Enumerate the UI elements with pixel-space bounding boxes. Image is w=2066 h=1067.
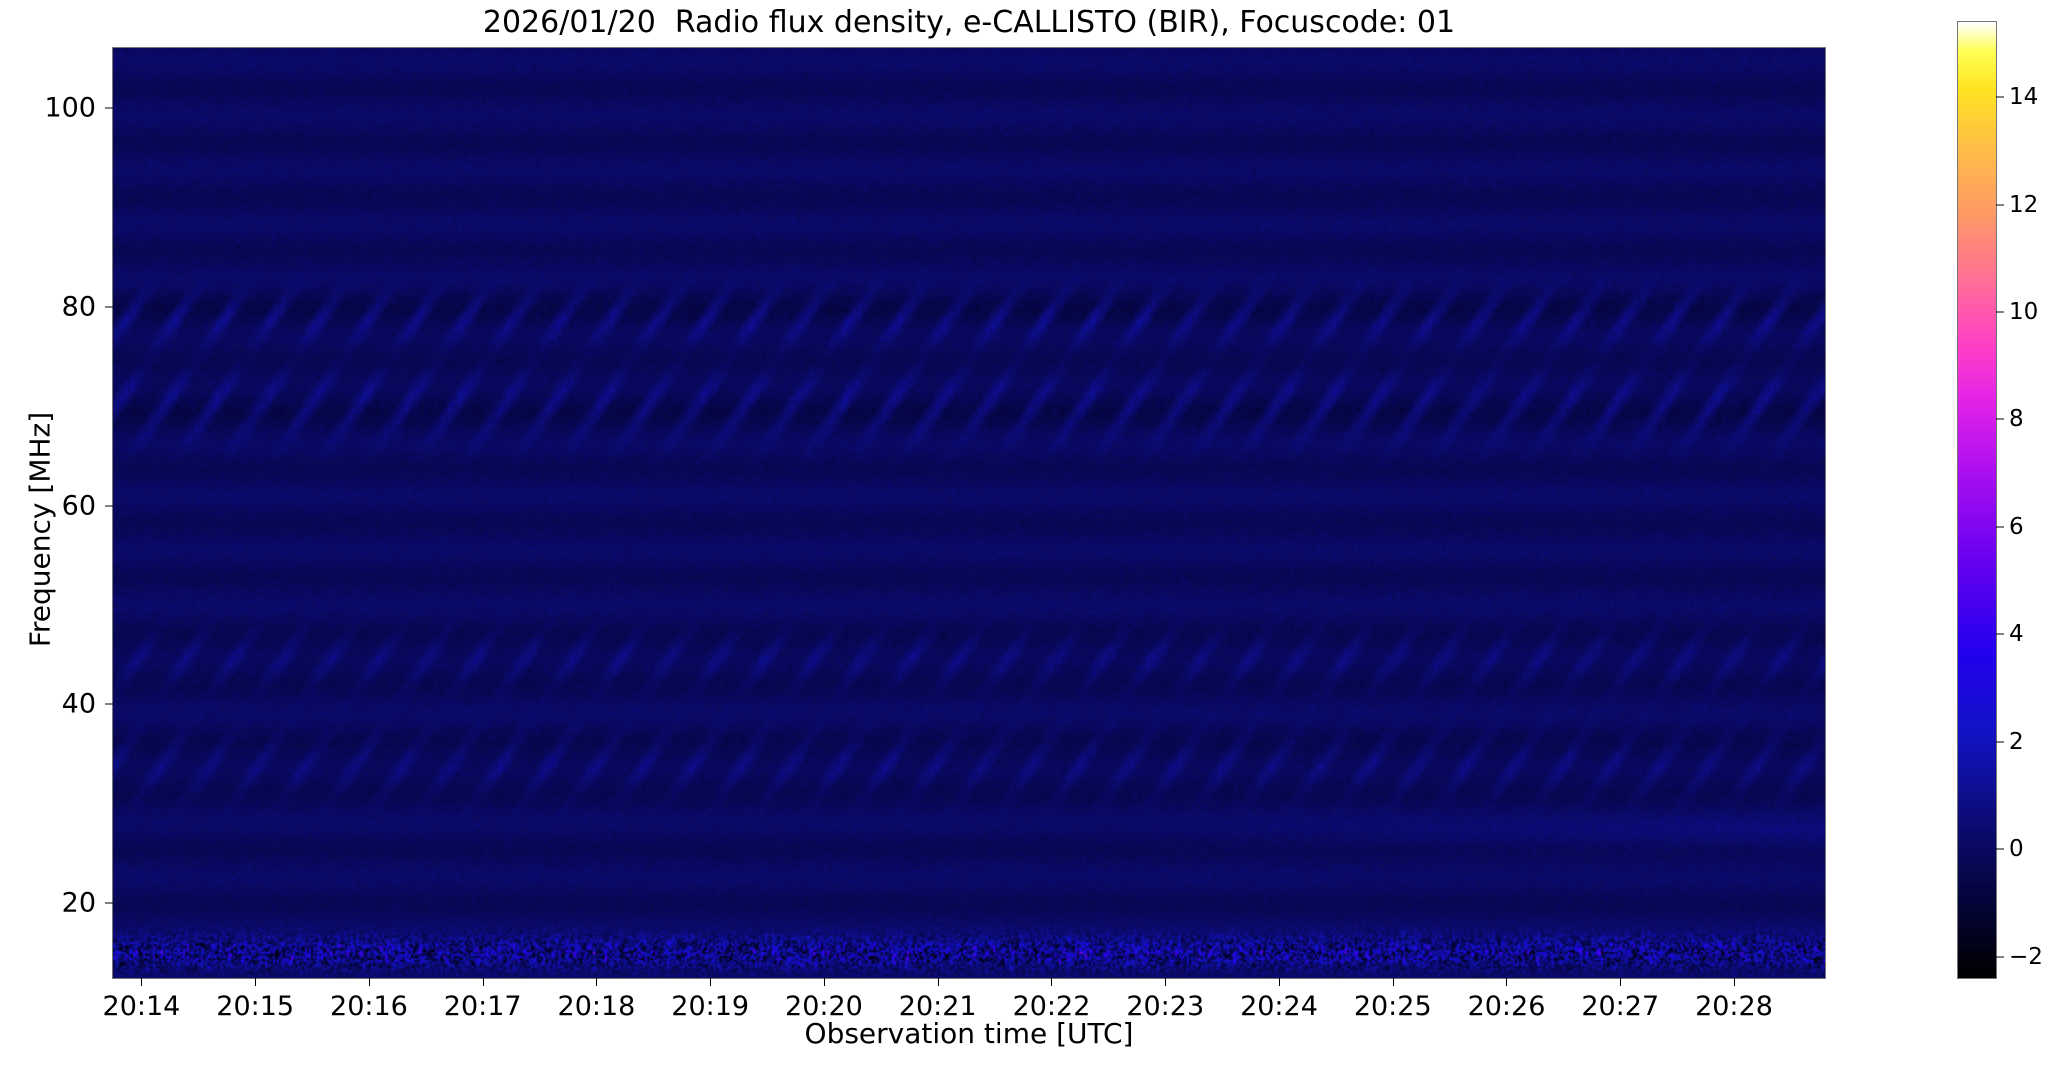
colorbar-tick-label: 12 [2009, 192, 2038, 218]
y-tick-label: 60 [62, 490, 96, 521]
colorbar-tick-mark [1996, 204, 2004, 205]
x-tick-mark [255, 978, 256, 986]
x-tick-mark [938, 978, 939, 986]
colorbar-tick-label: −2 [2009, 944, 2043, 970]
x-tick-mark [1506, 978, 1507, 986]
y-tick-label: 100 [44, 92, 96, 123]
colorbar-tick-label: 6 [2009, 514, 2024, 540]
page-title: 2026/01/20 Radio flux density, e-CALLIST… [113, 4, 1825, 42]
y-tick-mark [105, 306, 113, 307]
x-tick-mark [710, 978, 711, 986]
y-tick-mark [105, 903, 113, 904]
x-tick-mark [1393, 978, 1394, 986]
y-tick-label: 80 [62, 291, 96, 322]
x-tick-mark [369, 978, 370, 986]
colorbar-tick-label: 2 [2009, 729, 2024, 755]
colorbar-tick-label: 0 [2009, 836, 2024, 862]
colorbar-ticks: 14121086420−2 [1996, 0, 2066, 1067]
x-tick-mark [1051, 978, 1052, 986]
y-tick-mark [105, 704, 113, 705]
colorbar-tick-label: 10 [2009, 299, 2038, 325]
colorbar-tick-mark [1996, 956, 2004, 957]
colorbar[interactable] [1958, 22, 1996, 978]
y-axis-title: Frequency [MHz] [24, 230, 57, 830]
x-tick-mark [596, 978, 597, 986]
colorbar-tick-label: 4 [2009, 621, 2024, 647]
colorbar-tick-label: 14 [2009, 84, 2038, 110]
x-tick-mark [141, 978, 142, 986]
figure-canvas: 2026/01/20 Radio flux density, e-CALLIST… [0, 0, 2066, 1067]
y-tick-mark [105, 505, 113, 506]
x-axis-title: Observation time [UTC] [113, 1017, 1825, 1050]
y-tick-label: 20 [62, 888, 96, 919]
x-tick-mark [824, 978, 825, 986]
colorbar-tick-mark [1996, 419, 2004, 420]
colorbar-tick-mark [1996, 741, 2004, 742]
colorbar-tick-mark [1996, 312, 2004, 313]
colorbar-gradient [1958, 22, 1996, 978]
spectrogram-image [113, 48, 1825, 978]
colorbar-tick-mark [1996, 526, 2004, 527]
spectrogram-plot-area[interactable] [113, 48, 1825, 978]
x-tick-mark [1620, 978, 1621, 986]
y-axis: 10080604020 [0, 0, 113, 1067]
y-tick-label: 40 [62, 689, 96, 720]
y-tick-mark [105, 107, 113, 108]
colorbar-tick-label: 8 [2009, 406, 2024, 432]
colorbar-tick-mark [1996, 97, 2004, 98]
x-tick-mark [1734, 978, 1735, 986]
x-tick-mark [483, 978, 484, 986]
x-tick-mark [1279, 978, 1280, 986]
x-tick-mark [1165, 978, 1166, 986]
colorbar-tick-mark [1996, 849, 2004, 850]
colorbar-tick-mark [1996, 634, 2004, 635]
